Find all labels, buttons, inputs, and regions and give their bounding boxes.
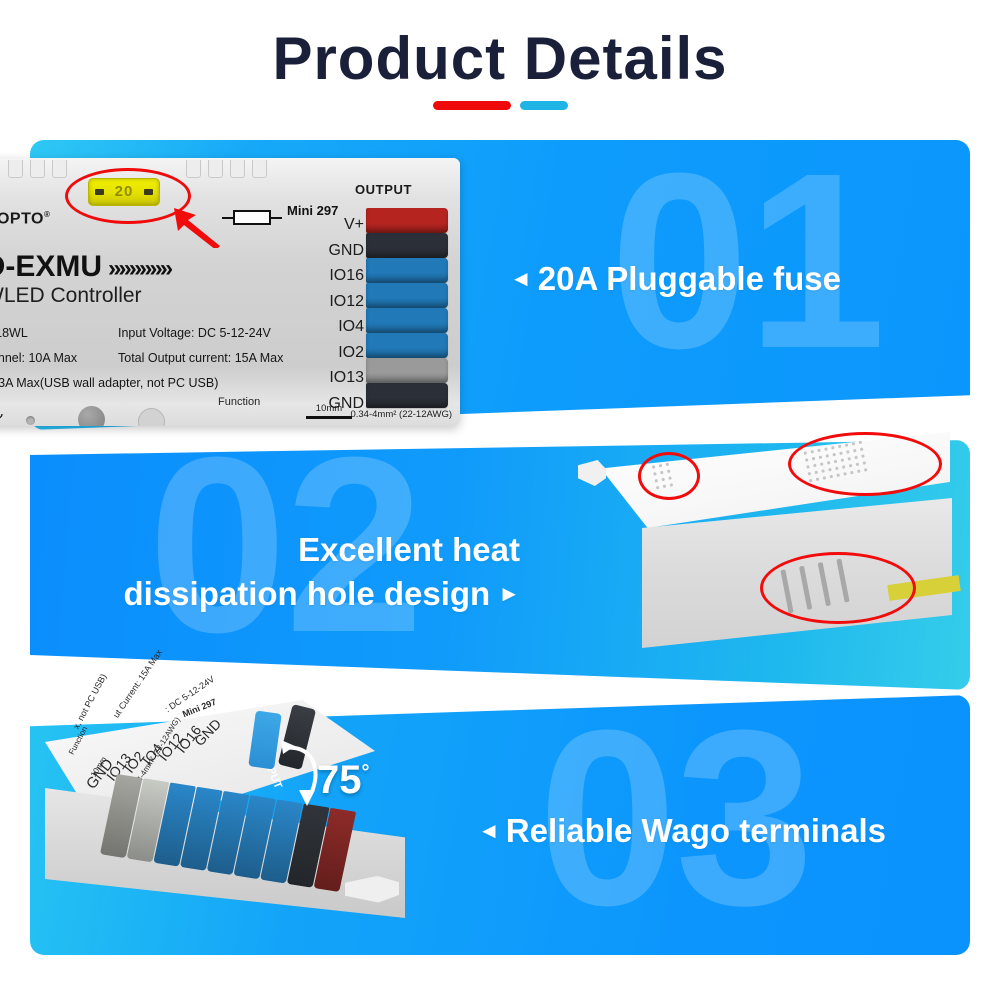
caption-arrow-left-icon: ◄	[510, 258, 532, 300]
caption-text: Reliable Wago terminals	[506, 812, 886, 849]
registered-mark: ®	[44, 210, 50, 219]
housing-clip-tab	[30, 160, 45, 178]
wago-lever-stack	[366, 208, 448, 408]
spec-usb-power: V, 3A Max(USB wall adapter, not PC USB)	[0, 376, 218, 390]
terminal-label-list: V+ GND IO16 IO12 IO4 IO2 IO13 GND	[328, 212, 364, 416]
strip-length-scale: 10mm	[306, 403, 352, 419]
spec-part-number: -618WL	[0, 326, 28, 340]
caption-arrow-right-icon: ►	[498, 572, 520, 616]
terminal-label: IO13	[328, 365, 364, 391]
scale-label: 10mm	[316, 403, 342, 414]
terminal-label: IO16	[328, 263, 364, 289]
output-section-label: OUTPUT	[355, 182, 412, 197]
chevron-decoration: »»»»»»	[108, 255, 170, 283]
caption-panel-03: ◄Reliable Wago terminals	[478, 810, 886, 854]
spec-text-angled: x, not PC USB)	[71, 672, 108, 731]
enclosure-mount-clip	[578, 460, 606, 486]
controller-front-photo: 20 Mini 297 OOPTO® O-EXMU »»»»»» WLED Co…	[0, 158, 460, 426]
housing-clip-tab	[208, 160, 223, 178]
wire-gauge-spec: 0.34-4mm² (22-12AWG)	[350, 409, 452, 420]
caption-text-line2: dissipation hole design	[124, 575, 491, 612]
fuse-schematic-icon	[222, 210, 282, 225]
wago-lever[interactable]	[366, 233, 448, 258]
device-subtitle: WLED Controller	[0, 284, 142, 308]
caption-text: 20A Pluggable fuse	[538, 260, 841, 297]
brand-logo-text: OOPTO®	[0, 210, 50, 228]
fuse-pointer-arrow	[168, 206, 224, 248]
function-button-label: Function	[218, 396, 260, 408]
page-header: Product Details	[0, 0, 1000, 132]
wago-lever[interactable]	[366, 283, 448, 308]
caption-panel-01: ◄20A Pluggable fuse	[510, 258, 841, 302]
reset-button[interactable]	[78, 406, 105, 426]
angle-unit: °	[362, 762, 370, 784]
microphone-icon	[0, 406, 4, 426]
terminal-label: IO4	[328, 314, 364, 340]
enclosure-photo	[570, 432, 960, 660]
vent-highlight-ellipse-slots	[760, 552, 916, 624]
open-angle-badge: 75°	[317, 758, 370, 803]
wago-lever[interactable]	[366, 383, 448, 408]
housing-clip-tab	[252, 160, 267, 178]
vent-highlight-ellipse-large	[788, 432, 942, 496]
housing-clip-tab	[230, 160, 245, 178]
status-led	[26, 416, 35, 425]
terminal-label: GND	[328, 238, 364, 264]
housing-clip-tab	[52, 160, 67, 178]
housing-clip-tab	[8, 160, 23, 178]
wago-lever[interactable]	[366, 333, 448, 358]
vent-highlight-ellipse-small	[638, 452, 700, 500]
terminal-label: IO2	[328, 340, 364, 366]
caption-text-line1: Excellent heat	[298, 531, 520, 568]
wago-lever[interactable]	[366, 258, 448, 283]
title-accent-bars	[0, 101, 1000, 110]
terminal-label: IO12	[328, 289, 364, 315]
wago-lever[interactable]	[366, 308, 448, 333]
device-model-name: O-EXMU »»»»»»	[0, 250, 170, 284]
model-text: O-EXMU	[0, 250, 102, 284]
wago-lever[interactable]	[366, 358, 448, 383]
wago-lever[interactable]	[366, 208, 448, 233]
scale-bar	[306, 416, 352, 419]
accent-bar-blue	[520, 101, 568, 110]
spec-input-voltage: Input Voltage: DC 5-12-24V	[118, 326, 271, 340]
controller-angled-photo: : DC 5-12-24V ut Current: 15A Max x, not…	[45, 700, 465, 925]
spec-channel-current: hannel: 10A Max	[0, 351, 77, 365]
page-title: Product Details	[0, 26, 1000, 92]
angle-value: 75	[317, 758, 362, 802]
terminal-label: V+	[328, 212, 364, 238]
housing-clip-tab	[186, 160, 201, 178]
brand-name: OOPTO	[0, 210, 44, 227]
function-button[interactable]	[138, 408, 165, 426]
accent-bar-red	[433, 101, 511, 110]
caption-arrow-left-icon: ◄	[478, 810, 500, 852]
caption-panel-02: Excellent heat dissipation hole design►	[100, 528, 520, 618]
spec-total-output: Total Output current: 15A Max	[118, 351, 283, 365]
